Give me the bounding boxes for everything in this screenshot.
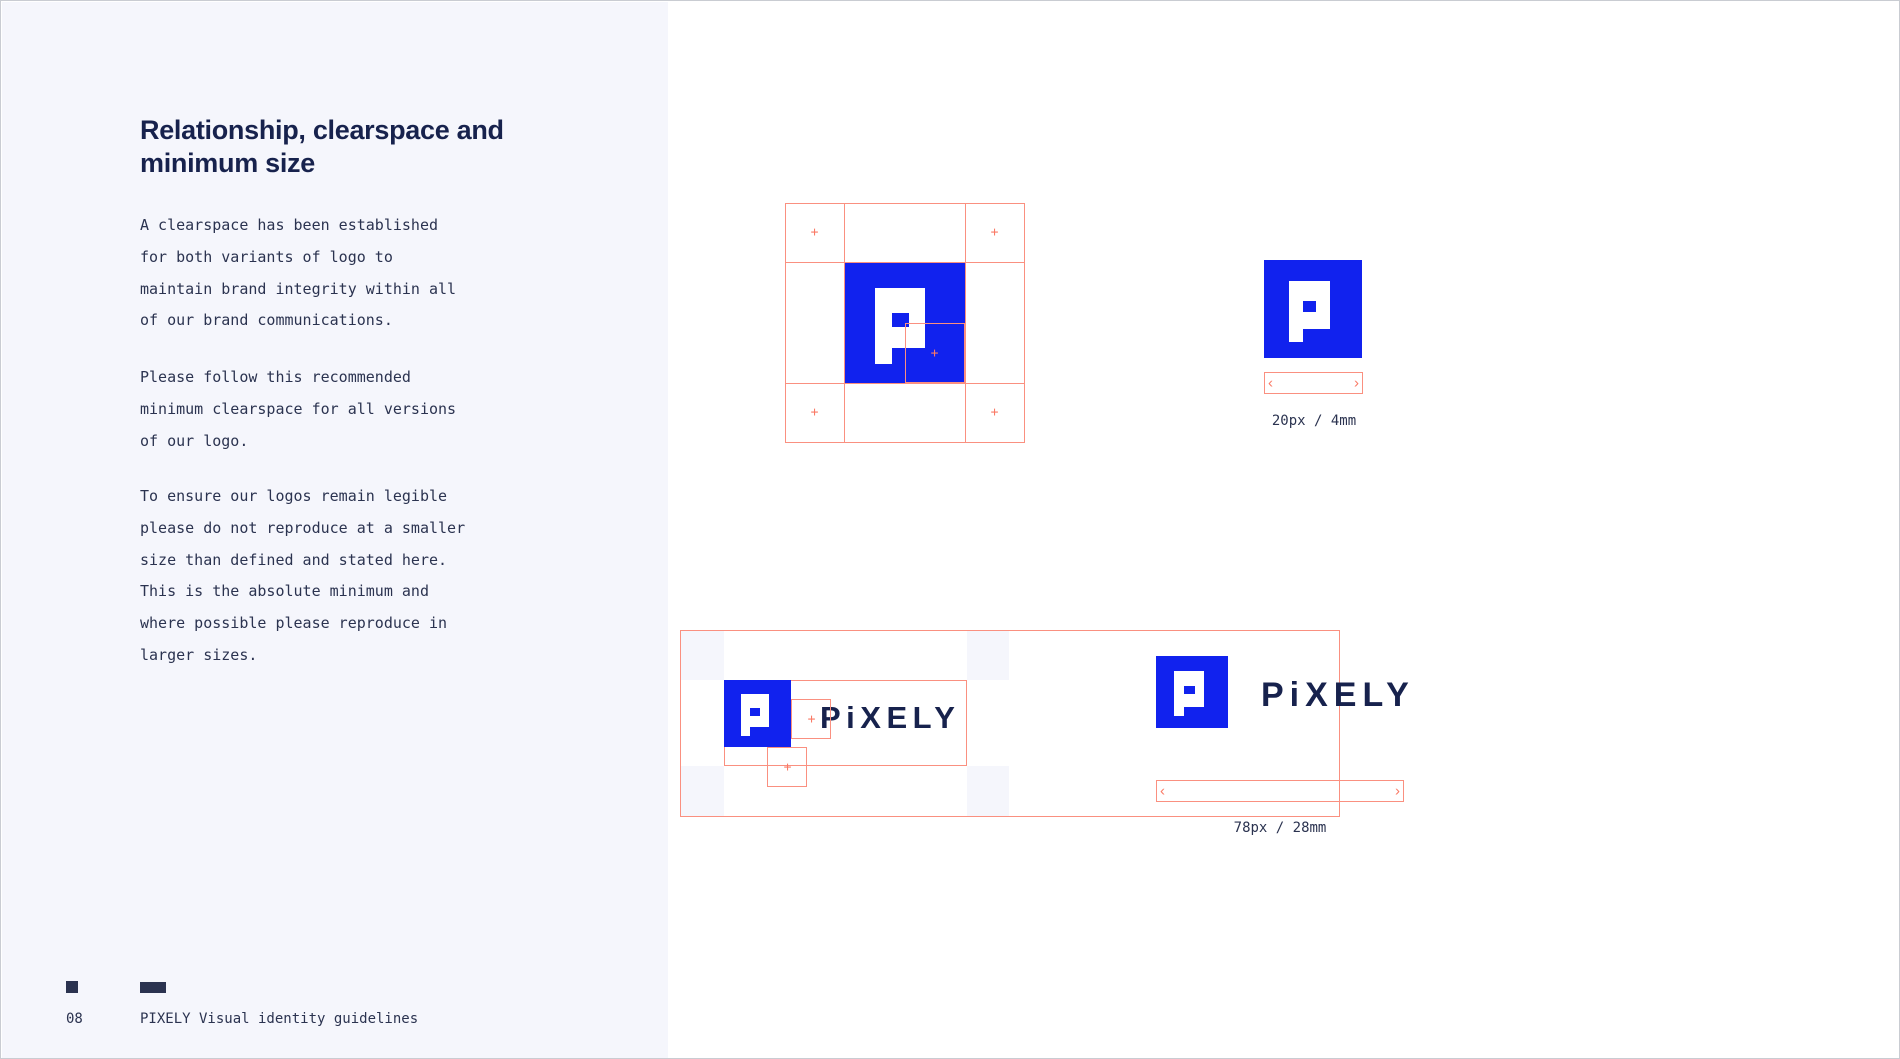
p-descender-block <box>1174 707 1184 717</box>
lockup-measurement-label: 78px / 28mm <box>1200 819 1360 837</box>
body-paragraph-1: A clearspace has been established for bo… <box>140 210 540 337</box>
p-stem-lower <box>875 339 892 348</box>
symbol-measurement-label: 20px / 4mm <box>1234 412 1394 430</box>
grid-line-v3 <box>965 203 966 443</box>
p-bowl-bottom <box>750 716 768 728</box>
grid-line-h1 <box>785 203 1025 204</box>
logo-symbol-lockup-small <box>1156 656 1228 728</box>
page-title: Relationship, clearspace and minimum siz… <box>140 114 560 180</box>
body-paragraph-3: To ensure our logos remain legible pleas… <box>140 481 540 672</box>
p-bowl-top <box>741 694 769 708</box>
p-stem-upper <box>1174 686 1184 701</box>
body-paragraph-2: Please follow this recommended minimum c… <box>140 362 540 457</box>
right-artwork-panel: ‹ › 20px / 4mm <box>668 2 1900 1059</box>
p-descender-block <box>1289 329 1303 342</box>
plus-marker-center <box>929 348 940 359</box>
plus-marker-bottom-right <box>989 407 1000 418</box>
square-mark-icon <box>66 981 78 993</box>
p-bowl-top <box>875 288 925 313</box>
p-descender-block <box>875 348 892 364</box>
footer-title: PIXELY Visual identity guidelines <box>140 1010 418 1028</box>
grid-line-h4 <box>785 442 1025 443</box>
p-bowl-top <box>1174 671 1204 686</box>
p-stem-upper <box>741 708 751 722</box>
bar-mark-icon <box>140 982 166 993</box>
p-stem-upper <box>1289 301 1303 322</box>
left-text-panel: Relationship, clearspace and minimum siz… <box>2 2 668 1059</box>
plus-marker-below <box>782 762 793 773</box>
logo-symbol-lockup <box>724 680 791 747</box>
p-bowl-bottom <box>1184 694 1204 707</box>
lockup-dimension-bar: ‹ › <box>1156 780 1404 802</box>
grid-line-h3 <box>785 383 1025 384</box>
plus-marker-right <box>806 714 817 725</box>
p-stem-upper <box>875 313 892 338</box>
p-descender-block <box>741 727 751 736</box>
guidelines-page: Relationship, clearspace and minimum siz… <box>0 0 1900 1059</box>
wordmark-lockup: PiXELY <box>820 700 960 736</box>
p-bowl-bottom <box>1303 312 1330 329</box>
p-stem-lower <box>1289 322 1303 329</box>
dimension-arrow-left-icon: ‹ <box>1160 784 1165 799</box>
symbol-dimension-bar: ‹ › <box>1264 372 1363 394</box>
p-bowl-top <box>1289 281 1330 302</box>
plus-marker-top-left <box>809 227 820 238</box>
wordmark-specimen: PiXELY <box>1261 676 1415 715</box>
dimension-arrow-right-icon: › <box>1354 376 1359 391</box>
plus-marker-bottom-left <box>809 407 820 418</box>
grid-line-v4 <box>1024 203 1025 443</box>
dimension-arrow-right-icon: › <box>1395 784 1400 799</box>
logo-symbol-small <box>1264 260 1362 358</box>
symbol-clearspace-diagram <box>785 203 1025 443</box>
plus-marker-top-right <box>989 227 1000 238</box>
dimension-arrow-left-icon: ‹ <box>1268 376 1273 391</box>
footer-page-number: 08 <box>66 1010 83 1028</box>
grid-line-v1 <box>785 203 786 443</box>
